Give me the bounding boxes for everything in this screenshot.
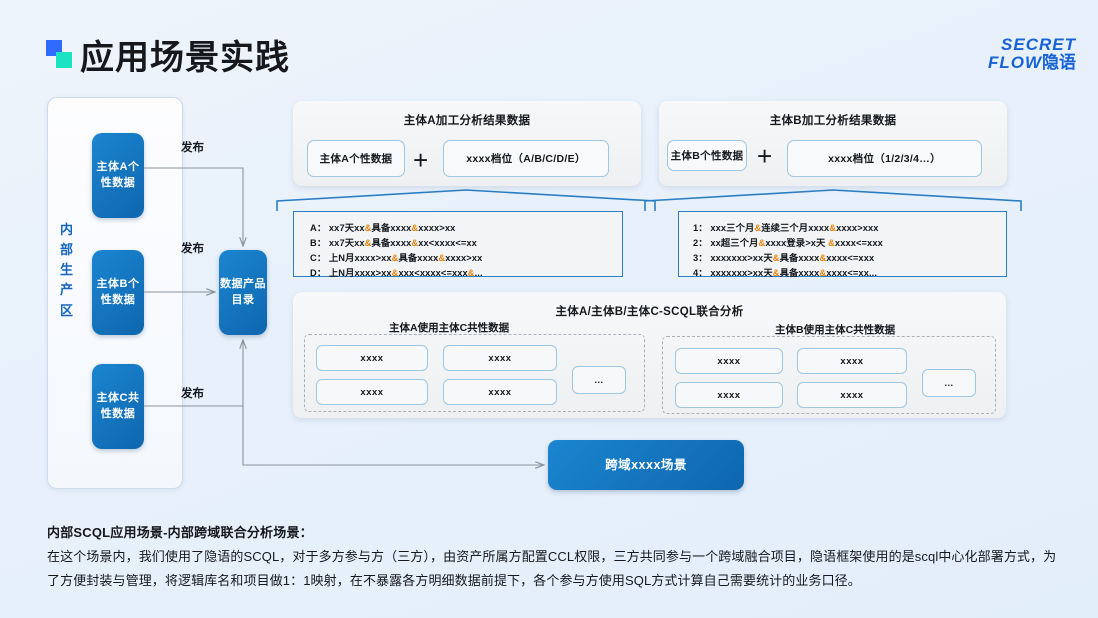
panel-a-pill-right: xxxx档位（A/B/C/D/E） [443,140,609,177]
scql-cell[interactable]: xxxx [675,348,783,374]
publish-label-b: 发布 [181,240,204,256]
publish-label-c: 发布 [181,385,204,401]
scql-cell-ellipsis[interactable]: … [922,369,976,397]
panel-b-title: 主体B加工分析结果数据 [659,112,1007,128]
title-square-teal-icon [56,52,72,68]
panel-a-title: 主体A加工分析结果数据 [293,112,641,128]
detail-row: 3： xxxxxxx>xx天&具备xxxx&xxxx<=xxx [679,251,1006,266]
scql-cell[interactable]: xxxx [443,379,557,405]
panel-a-pill-left: 主体A个性数据 [307,140,405,177]
scql-cell[interactable]: xxxx [316,379,428,405]
secretflow-logo: SECRET FLOW隐语 [988,36,1076,72]
panel-b-pill-right-label: xxxx档位（1/2/3/4…） [828,151,941,166]
detail-row: C： 上N月xxxx>xx&具备xxxx&xxxx>xx [294,251,622,266]
detail-key: B： [310,238,326,248]
panel-a-pill-right-label: xxxx档位（A/B/C/D/E） [466,151,585,166]
panel-a-detail-box: A： xx7天xx&具备xxxx&xxxx>xx B： xx7天xx&具备xxx… [293,211,623,277]
slide-canvas: 应用场景实践 SECRET FLOW隐语 内部生产区 主体A个性数据 主体B个性… [0,0,1098,618]
scql-cell[interactable]: xxxx [797,382,907,408]
caption-title: 内部SCQL应用场景-内部跨域联合分析场景： [47,522,313,541]
panel-b-plus-icon: + [757,143,772,169]
data-product-catalog-box[interactable]: 数据产品目录 [219,250,267,335]
logo-line-flow: FLOW [988,53,1042,72]
entity-c-box[interactable]: 主体C共性数据 [92,364,144,449]
cross-domain-scene-label: 跨域xxxx场景 [605,456,687,474]
page-title: 应用场景实践 [80,30,290,79]
panel-b-pill-left-label: 主体B个性数据 [671,148,744,163]
scql-group-left-title: 主体A使用主体C共性数据 [389,320,509,335]
scql-cell[interactable]: xxxx [797,348,907,374]
scql-title: 主体A/主体B/主体C-SCQL联合分析 [293,303,1006,319]
detail-key: 4： [693,268,708,278]
scql-cell[interactable]: xxxx [443,345,557,371]
panel-b-detail-box: 1： xxx三个月&连续三个月xxxx&xxxx>xxx 2： xx超三个月&x… [678,211,1007,277]
logo-cn-text: 隐语 [1042,53,1076,72]
detail-key: 1： [693,223,708,233]
scql-cell[interactable]: xxxx [316,345,428,371]
caption-body: 在这个场景内，我们使用了隐语的SCQL，对于多方参与方（三方），由资产所属方配置… [47,545,1057,593]
entity-c-label: 主体C共性数据 [92,391,144,423]
detail-key: 2： [693,238,708,248]
detail-key: 3： [693,253,708,263]
detail-row: 4： xxxxxxx>xx天&具备xxxx&xxxx<=xx... [679,266,1006,281]
publish-label-a: 发布 [181,139,204,155]
entity-a-box[interactable]: 主体A个性数据 [92,133,144,218]
detail-row: 2： xx超三个月&xxxx登录>x天 &xxxx<=xxx [679,236,1006,251]
detail-row: A： xx7天xx&具备xxxx&xxxx>xx [294,221,622,236]
logo-line-secret: SECRET [988,36,1076,54]
panel-a-plus-icon: + [413,147,428,173]
panel-b-pill-left: 主体B个性数据 [667,140,747,171]
entity-a-label: 主体A个性数据 [92,160,144,192]
zone-label: 内部生产区 [56,220,78,321]
detail-key: C： [310,253,326,263]
detail-key: D： [310,268,326,278]
panel-b-pill-right: xxxx档位（1/2/3/4…） [787,140,982,177]
detail-key: A： [310,223,326,233]
detail-row: D： 上N月xxxx>xx&xxx<xxxx<=xxx&... [294,266,622,281]
cross-domain-scene-box[interactable]: 跨域xxxx场景 [548,440,744,490]
panel-a-pill-left-label: 主体A个性数据 [320,151,393,166]
scql-cell[interactable]: xxxx [675,382,783,408]
scql-cell-ellipsis[interactable]: … [572,366,626,394]
catalog-label: 数据产品目录 [219,277,267,309]
detail-row: B： xx7天xx&具备xxxx&xx<xxxx<=xx [294,236,622,251]
detail-row: 1： xxx三个月&连续三个月xxxx&xxxx>xxx [679,221,1006,236]
entity-b-box[interactable]: 主体B个性数据 [92,250,144,335]
scql-group-right-title: 主体B使用主体C共性数据 [775,322,895,337]
entity-b-label: 主体B个性数据 [92,277,144,309]
